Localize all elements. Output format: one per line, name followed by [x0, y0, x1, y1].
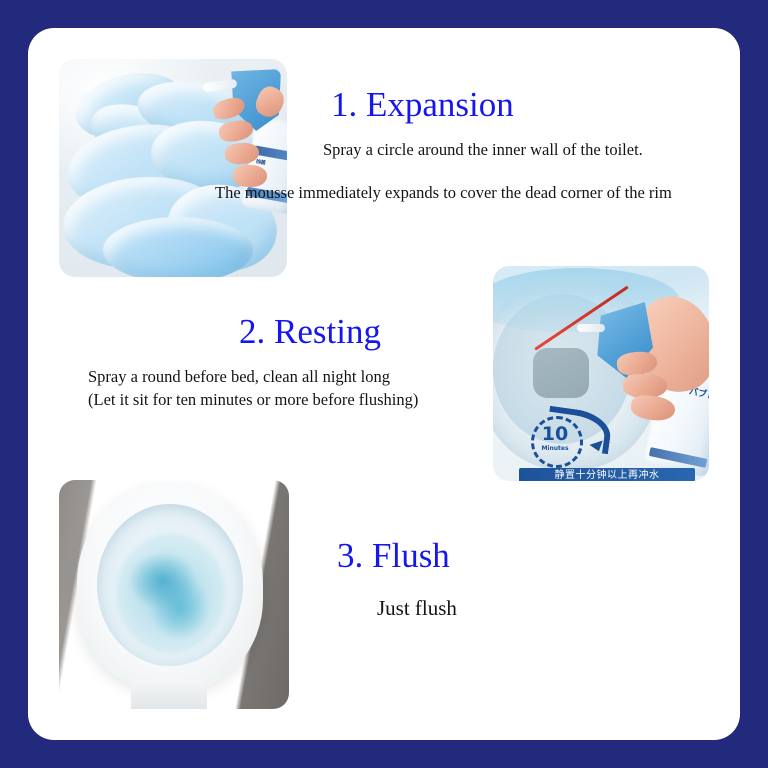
toilet-bowl	[77, 484, 263, 690]
blue-water	[117, 534, 225, 652]
poster-card: 除菌 泡沫 1. Expansion Spray a circle around…	[28, 28, 740, 740]
finger	[218, 118, 255, 144]
step-1-line-1: Spray a circle around the inner wall of …	[323, 140, 643, 160]
foam-blob	[103, 217, 253, 277]
toilet-bowl-inner	[97, 504, 243, 666]
chinese-instruction-banner: 静置十分钟以上再冲水	[519, 468, 695, 481]
hand-with-spray-can: バブレー	[593, 302, 709, 472]
step-3-line-1: Just flush	[377, 596, 457, 621]
mousse-foam-spray-photo: 除菌 泡沫	[59, 59, 287, 277]
spray-nozzle-icon	[577, 324, 605, 332]
toilet-flush-photo	[59, 480, 289, 709]
step-1-line-2: The mousse immediately expands to cover …	[215, 183, 672, 203]
step-2-line-1: Spray a round before bed, clean all nigh…	[88, 367, 390, 387]
can-band	[649, 447, 708, 468]
step-3-title: 3. Flush	[337, 536, 450, 576]
finger	[211, 95, 247, 123]
step-2-title: 2. Resting	[239, 312, 381, 352]
step-2-line-2: (Let it sit for ten minutes or more befo…	[88, 390, 418, 410]
spray-nozzle-icon	[203, 79, 238, 93]
toilet-pedestal	[131, 680, 207, 709]
poster-root: 除菌 泡沫 1. Expansion Spray a circle around…	[0, 0, 768, 768]
toilet-drain	[533, 348, 589, 398]
step-1-title: 1. Expansion	[331, 85, 514, 125]
ten-minutes-timer-badge: 10 Minutes	[531, 416, 607, 466]
toilet-resting-spray-photo: バブレー 10 Minutes 静置十分钟以上再冲水	[493, 266, 709, 481]
